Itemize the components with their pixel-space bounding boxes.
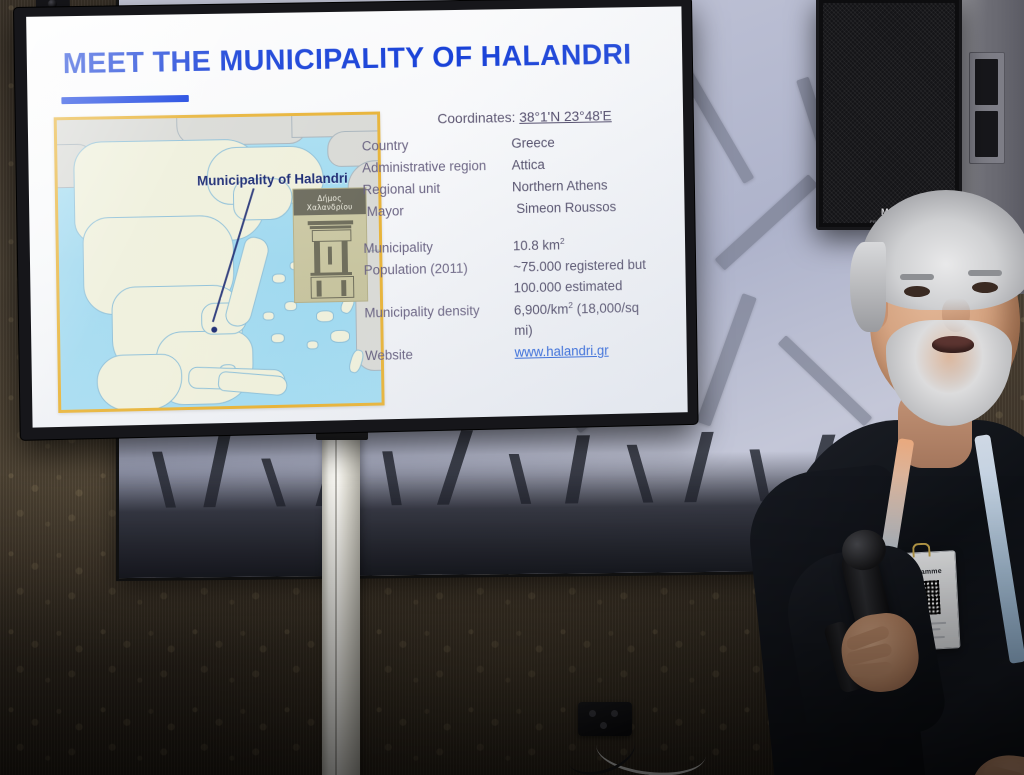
wall-mounted-tv: MEET THE MUNICIPALITY OF HALANDRI xyxy=(14,0,698,440)
fact-value: Northern Athens xyxy=(512,174,686,198)
tv-bezel: MEET THE MUNICIPALITY OF HALANDRI xyxy=(14,0,698,440)
fact-label: Mayor xyxy=(363,199,517,223)
presenter-eyebrow xyxy=(968,270,1002,276)
title-accent-bar xyxy=(61,95,189,104)
fact-value: ~75.000 registered but 100.000 estimated xyxy=(513,255,660,299)
fact-label: Population (2011) xyxy=(364,258,514,282)
fact-value: 6,900/km2 (18,000/sq mi) xyxy=(514,297,661,342)
room-floor-shadow xyxy=(0,475,1024,775)
fact-label: Municipality density xyxy=(364,300,514,324)
municipality-emblem: Δήμος Χαλανδρίου xyxy=(292,187,368,303)
presenter-eyebrow xyxy=(900,274,934,280)
fact-value: Attica xyxy=(512,152,686,176)
presenter-mouth xyxy=(932,336,974,353)
fact-label: Country xyxy=(362,134,512,158)
fact-value-base: 10.8 km xyxy=(513,237,560,253)
fact-label: Website xyxy=(365,343,515,367)
slide-title: MEET THE MUNICIPALITY OF HALANDRI xyxy=(63,39,632,81)
presentation-slide: MEET THE MUNICIPALITY OF HALANDRI xyxy=(26,6,688,427)
map-callout-label: Municipality of Halandri xyxy=(197,171,348,189)
fact-value-base: 6,900/km xyxy=(514,302,569,318)
presenter-eye xyxy=(972,282,998,293)
photo-scene: MB PROFESSIONAL MEET THE MUNICIPALITY OF… xyxy=(0,0,1024,775)
coordinates-value: 38°1'N 23°48'E xyxy=(519,107,612,124)
fact-value: Greece xyxy=(511,131,685,155)
wall-fixture xyxy=(969,52,1005,164)
presenter-eye xyxy=(904,286,930,297)
fact-label: Administrative region xyxy=(362,156,512,180)
fact-label: Municipality xyxy=(363,236,513,260)
greece-map: Municipality of Halandri Δήμος Χαλανδρίο… xyxy=(54,112,385,414)
fact-value-superscript: 2 xyxy=(560,236,565,246)
coordinates-label: Coordinates: xyxy=(437,109,515,126)
fact-value: Simeon Roussos xyxy=(516,196,686,220)
emblem-caption: Δήμος Χαλανδρίου xyxy=(293,193,365,212)
website-link[interactable]: www.halandri.gr xyxy=(515,343,609,360)
coordinates-line: Coordinates: 38°1'N 23°48'E xyxy=(362,106,686,128)
presenter-hair xyxy=(860,190,1024,310)
facts-table: Country Greece Administrative region Att… xyxy=(362,131,688,369)
table-row: Municipality density 6,900/km2 (18,000/s… xyxy=(364,297,687,346)
fact-value: 10.8 km2 xyxy=(513,232,687,257)
fact-label: Regional unit xyxy=(362,177,512,201)
table-row: Population (2011) ~75.000 registered but… xyxy=(364,254,688,302)
